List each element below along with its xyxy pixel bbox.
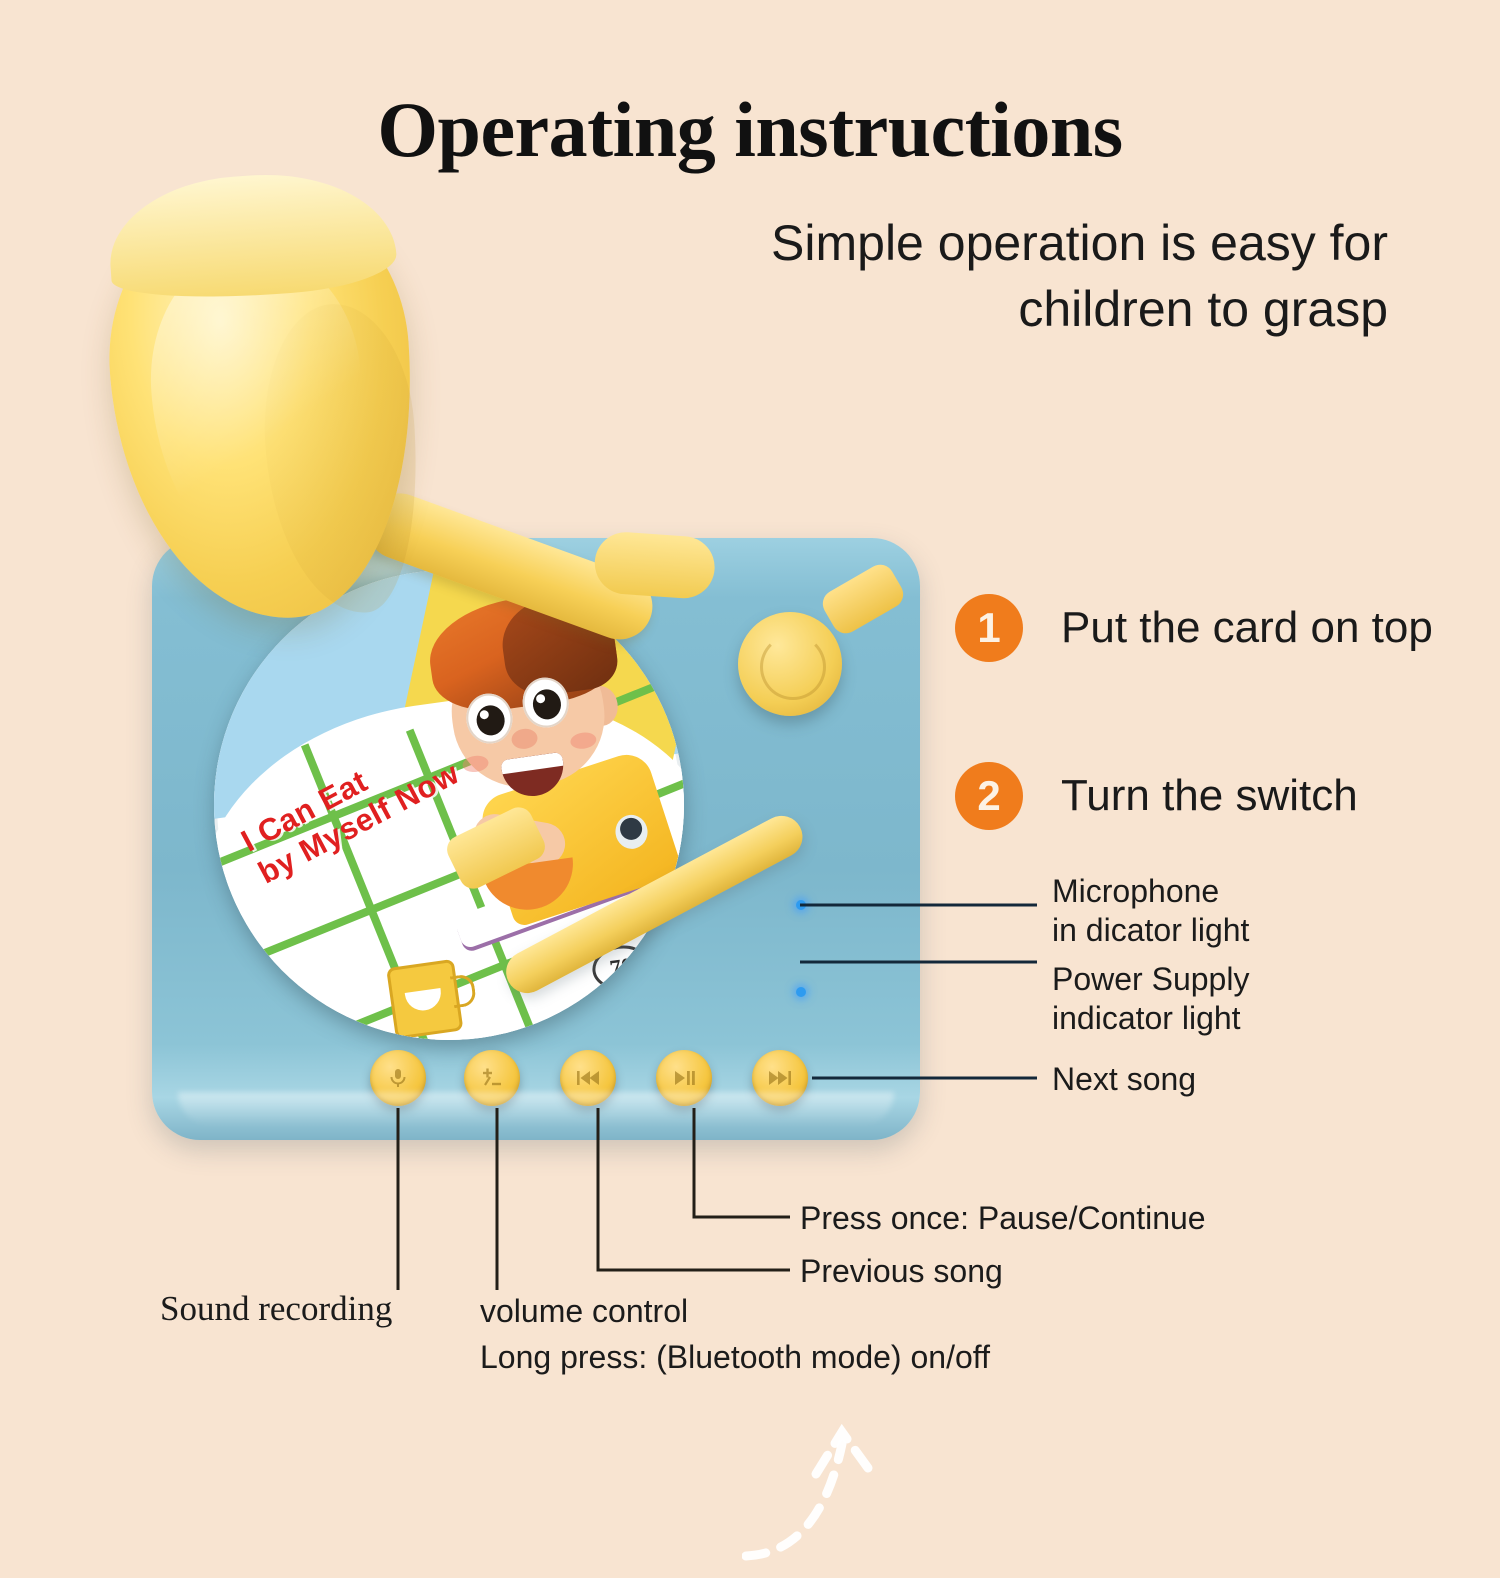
card-mug xyxy=(386,959,463,1040)
play-pause-button[interactable] xyxy=(656,1050,712,1106)
microphone-light-line-1: Microphone xyxy=(1052,872,1249,911)
callout-previous-song: Previous song xyxy=(800,1252,1003,1291)
step-2: 2 Turn the switch xyxy=(955,762,1358,830)
switch-lever[interactable] xyxy=(818,560,909,639)
microphone-light-line-2: in dicator light xyxy=(1052,911,1249,950)
power-light-line-1: Power Supply xyxy=(1052,960,1249,999)
power-switch-knob[interactable] xyxy=(738,612,842,716)
next-button[interactable] xyxy=(752,1050,808,1106)
next-track-icon xyxy=(767,1068,793,1088)
gramophone-horn xyxy=(98,177,466,759)
callout-bluetooth: Long press: (Bluetooth mode) on/off xyxy=(480,1338,990,1377)
plus-minus-icon xyxy=(479,1066,505,1090)
subtitle-line-1: Simple operation is easy for xyxy=(648,210,1388,276)
rotation-arrow-icon xyxy=(742,1388,932,1578)
previous-button[interactable] xyxy=(560,1050,616,1106)
step-2-label: Turn the switch xyxy=(1061,771,1358,821)
step-1-badge: 1 xyxy=(955,594,1023,662)
callout-microphone-light: Microphone in dicator light xyxy=(1052,872,1249,950)
callout-volume-control: volume control xyxy=(480,1292,688,1331)
microphone-button[interactable] xyxy=(370,1050,426,1106)
step-2-badge: 2 xyxy=(955,762,1023,830)
step-1: 1 Put the card on top xyxy=(955,594,1433,662)
play-pause-icon xyxy=(672,1068,696,1088)
subtitle-line-2: children to grasp xyxy=(648,276,1388,342)
horn-elbow xyxy=(593,530,717,600)
horn-shading xyxy=(256,299,427,619)
page-title: Operating instructions xyxy=(0,85,1500,175)
previous-track-icon xyxy=(575,1068,601,1088)
power-indicator-led xyxy=(796,987,806,997)
callout-power-light: Power Supply indicator light xyxy=(1052,960,1249,1038)
instruction-graphic: Operating instructions Simple operation … xyxy=(0,0,1500,1478)
gramophone-device: I Can Eat by Myself Now 70 xyxy=(152,538,920,1140)
callout-sound-recording: Sound recording xyxy=(160,1288,392,1331)
step-1-label: Put the card on top xyxy=(1061,603,1433,653)
microphone-indicator-led xyxy=(796,900,806,910)
power-light-line-2: indicator light xyxy=(1052,999,1249,1038)
callout-next-song: Next song xyxy=(1052,1060,1196,1099)
microphone-icon xyxy=(386,1066,410,1090)
page-subtitle: Simple operation is easy for children to… xyxy=(648,210,1388,342)
volume-button[interactable] xyxy=(464,1050,520,1106)
callout-press-once: Press once: Pause/Continue xyxy=(800,1199,1206,1238)
